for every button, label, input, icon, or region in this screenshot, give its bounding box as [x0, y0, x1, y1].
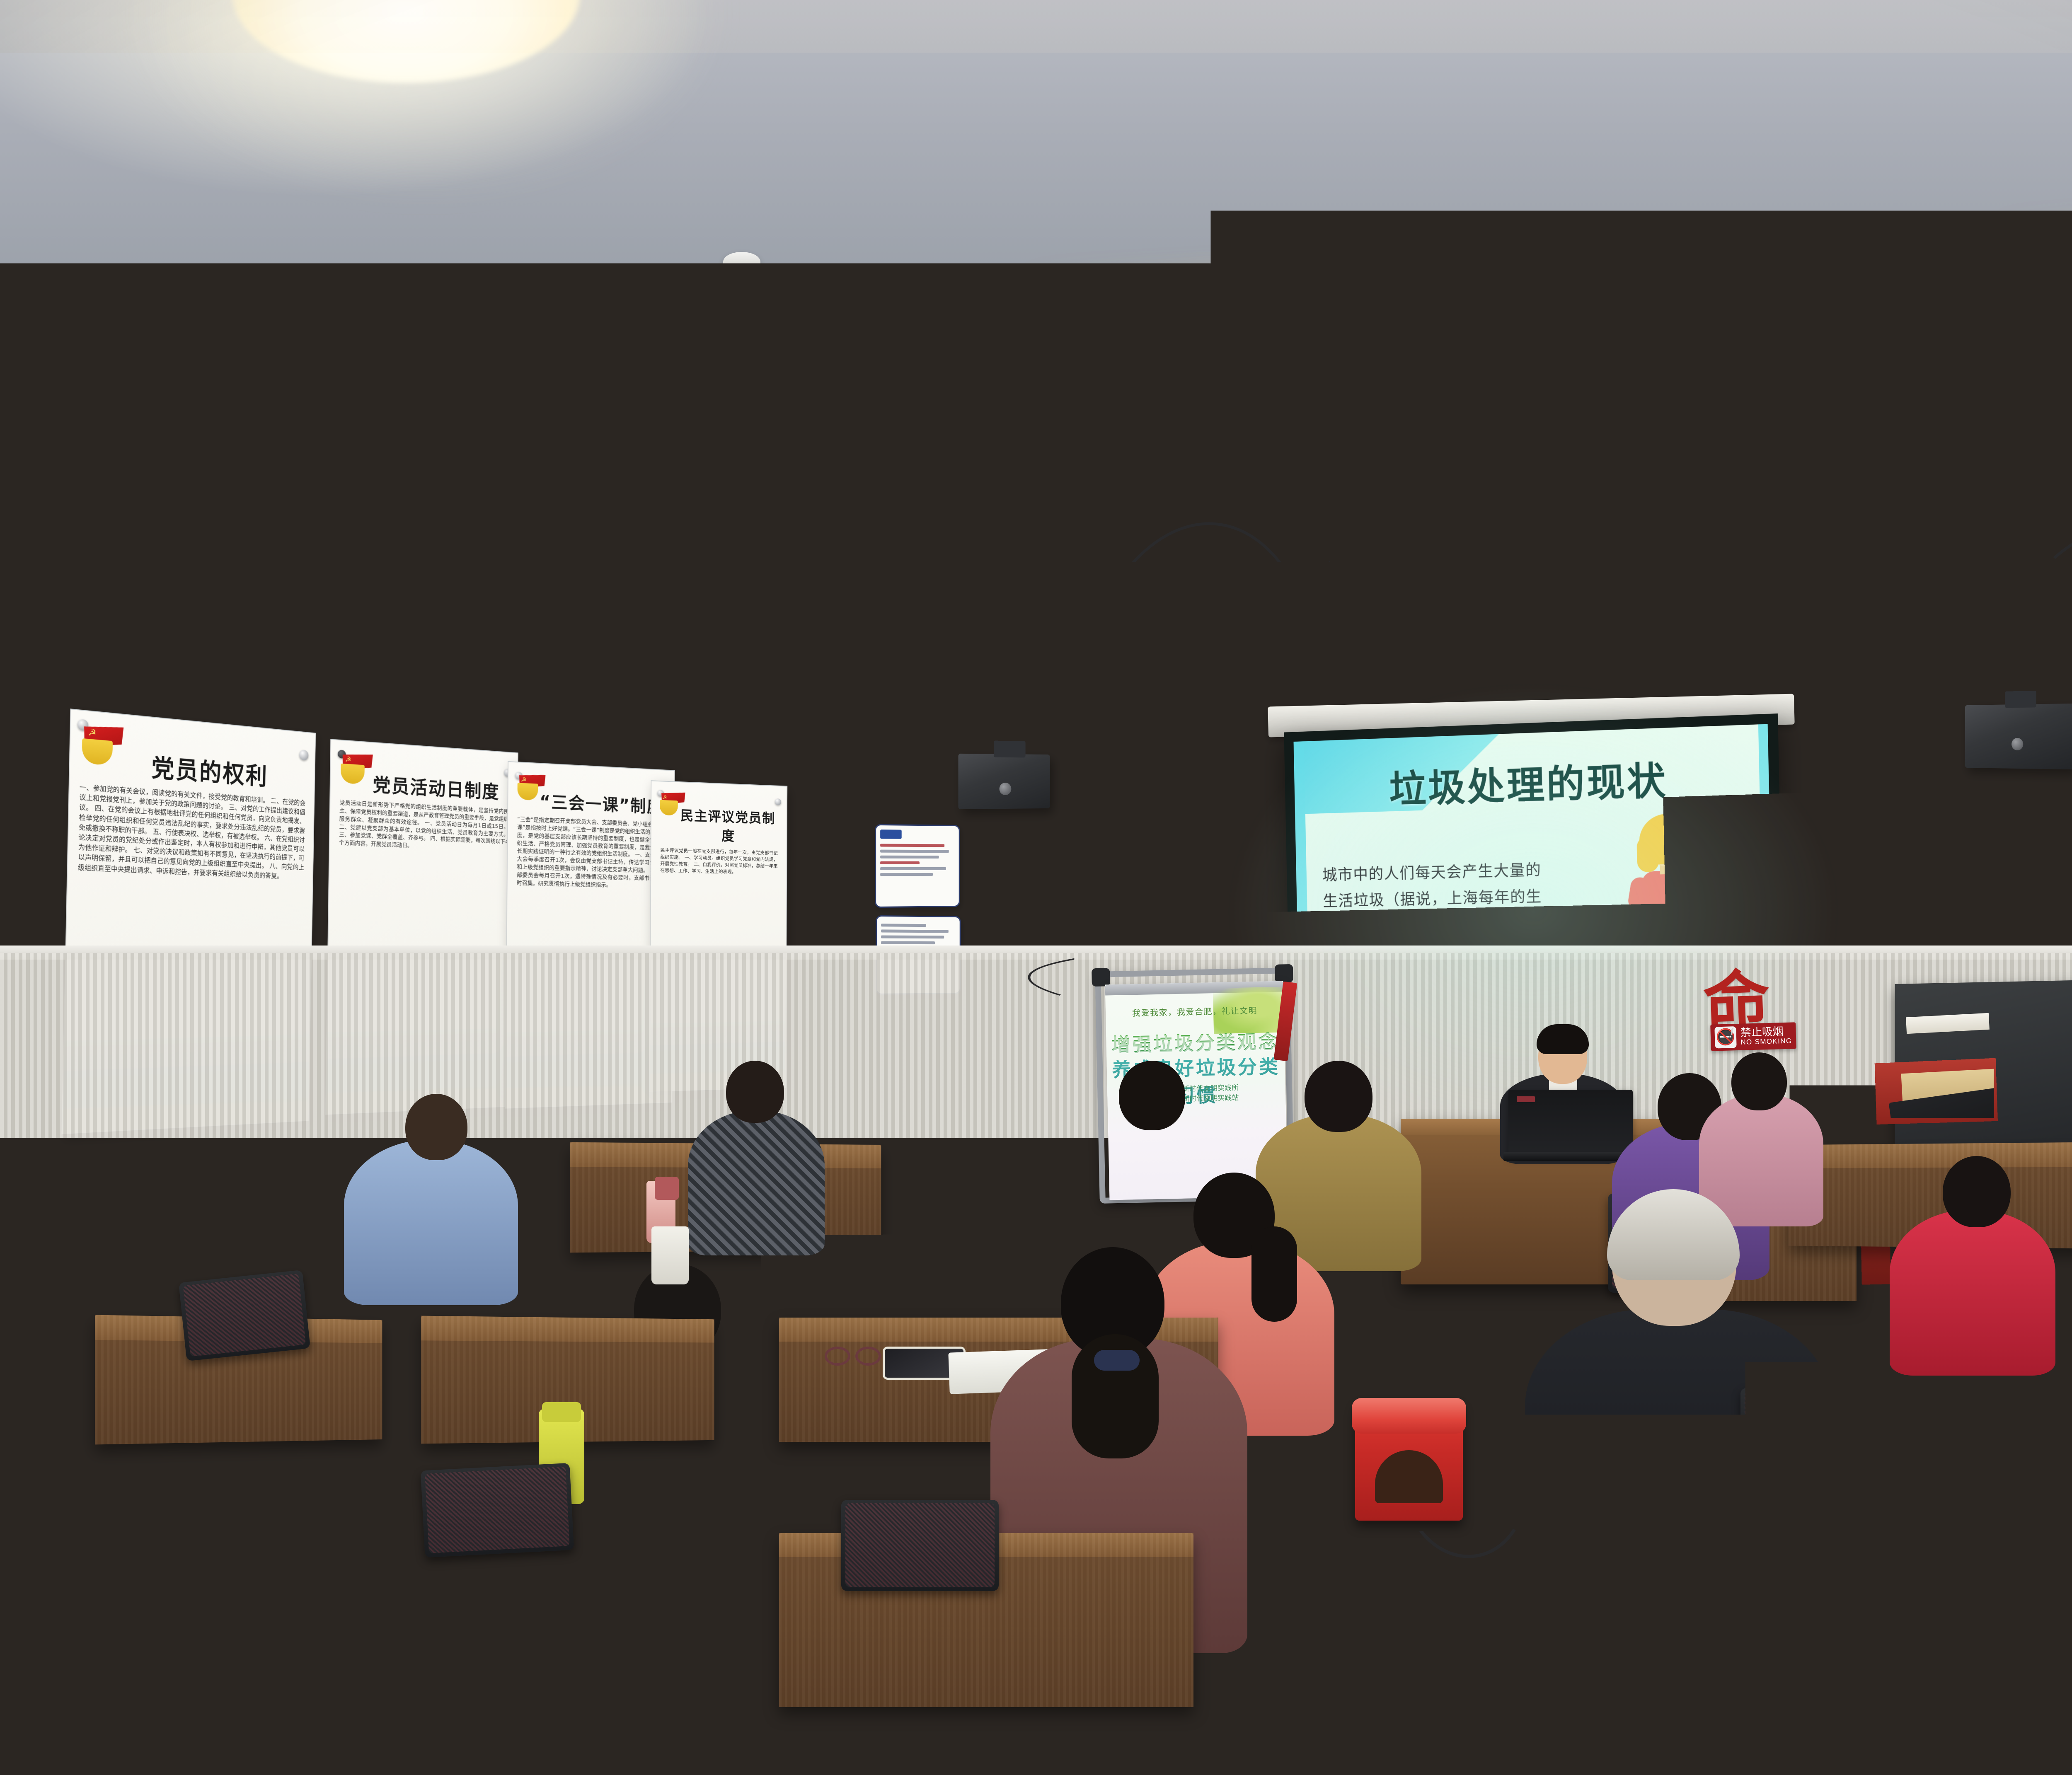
attendee-head	[1731, 1052, 1787, 1110]
party-emblem-icon: ☭	[338, 752, 373, 785]
attendee-torso	[1890, 1210, 2055, 1376]
wall-speaker-left	[958, 754, 1050, 809]
poster-body: 民主评议党员一般在党支部进行，每年一次，由党支部书记组织实施。 一、学习动员。组…	[658, 847, 779, 876]
poster-body: 一、参加党的有关会议，阅读党的有关文件，接受党的教育和培训。 二、在党的会议上和…	[75, 782, 308, 881]
projector-ceiling-plate	[1228, 471, 1329, 494]
poster-title: 民主评议党员制度	[676, 805, 779, 846]
projector-mount-pole	[1255, 489, 1276, 642]
av-equipment-box	[894, 1112, 991, 1146]
slide-paragraph-1: 城市中的人们每天会产生大量的生活垃圾（据说，上海每年的生活垃圾有5个金茂大厦的体…	[1322, 857, 1544, 1018]
attendee-ponytail	[1251, 1226, 1297, 1322]
ceiling-air-vent	[977, 383, 1115, 426]
attendee-torso	[489, 1554, 779, 1775]
speaker-bracket	[2005, 691, 2036, 708]
attendee-ponytail	[12, 1276, 58, 1367]
bottle-cap	[655, 1177, 679, 1200]
speaker-bracket	[994, 741, 1026, 758]
poster-title: 党员活动日制度	[361, 769, 511, 804]
party-emblem-icon: ☭	[657, 791, 685, 817]
screw-icon	[299, 750, 309, 761]
hair-scrunchie	[1094, 1350, 1140, 1371]
no-smoking-sign: 🚭 禁止吸烟 NO SMOKING	[1710, 1022, 1796, 1051]
stool-cutout	[1375, 1450, 1443, 1503]
party-emblem-icon: ☭	[79, 723, 125, 767]
meeting-room-photo: ☭ 党员的权利 一、参加党的有关会议，阅读党的有关文件，接受党的教育和培训。 二…	[0, 0, 2072, 1775]
eyeglasses-on-desk[interactable]	[825, 1347, 887, 1366]
attendee-head	[405, 1094, 467, 1160]
attendee-torso	[344, 1139, 518, 1305]
recycle-symbol-icon: ♻	[1626, 953, 1643, 974]
emergency-safety-notice	[875, 824, 960, 908]
attendee-torso	[688, 1110, 825, 1255]
desk-row-front-right	[1450, 1529, 1886, 1703]
red-plastic-stool[interactable]	[1355, 1400, 1463, 1521]
attendee-head	[1119, 1061, 1185, 1130]
presenter-hair	[1537, 1024, 1589, 1054]
attendee-head	[1305, 1061, 1372, 1132]
equipment-cabinet	[899, 1144, 986, 1239]
thermos-cap	[542, 1402, 581, 1422]
speaker-cone-icon	[2011, 738, 2023, 750]
chair-right[interactable]	[1740, 1388, 1877, 1469]
illus-hair-top	[1639, 813, 1695, 865]
illus-boot-left	[1643, 1005, 1672, 1045]
laptop-lid-sticker	[1517, 1096, 1535, 1102]
poster-body: “三会”是指定期召开支部党员大会、支部委员会、党小组会，“一课”是指按时上好党课…	[515, 816, 667, 891]
stool-seat	[1352, 1398, 1466, 1434]
attendee-head	[1943, 1156, 2011, 1227]
party-emblem-icon: ☭	[515, 774, 545, 802]
chair-left-back[interactable]	[179, 1270, 310, 1361]
chair-left-front[interactable]	[421, 1463, 574, 1558]
smoke-detector-icon	[723, 252, 760, 272]
illus-boot-right	[1670, 1002, 1702, 1045]
notice-text-lines	[880, 844, 955, 876]
no-smoking-icon: 🚭	[1714, 1026, 1736, 1048]
poster-body: 党员活动日是新形势下严格党的组织生活制度的重要载体，是坚持党内民主、保障党员权利…	[337, 799, 510, 854]
attendee-head	[572, 1458, 684, 1578]
screw-icon	[775, 798, 781, 805]
notice-tag	[880, 829, 902, 839]
speaker-cone-icon	[1000, 783, 1012, 795]
no-smoking-label-en: NO SMOKING	[1740, 1037, 1792, 1046]
chair-center[interactable]	[841, 1500, 999, 1591]
wall-speaker-right	[1965, 704, 2072, 769]
chair-center-right[interactable]	[1193, 1380, 1334, 1463]
white-water-cup[interactable]	[651, 1226, 689, 1284]
attendee-head	[726, 1061, 784, 1123]
poster-title: “三会一课”制度	[535, 788, 667, 818]
